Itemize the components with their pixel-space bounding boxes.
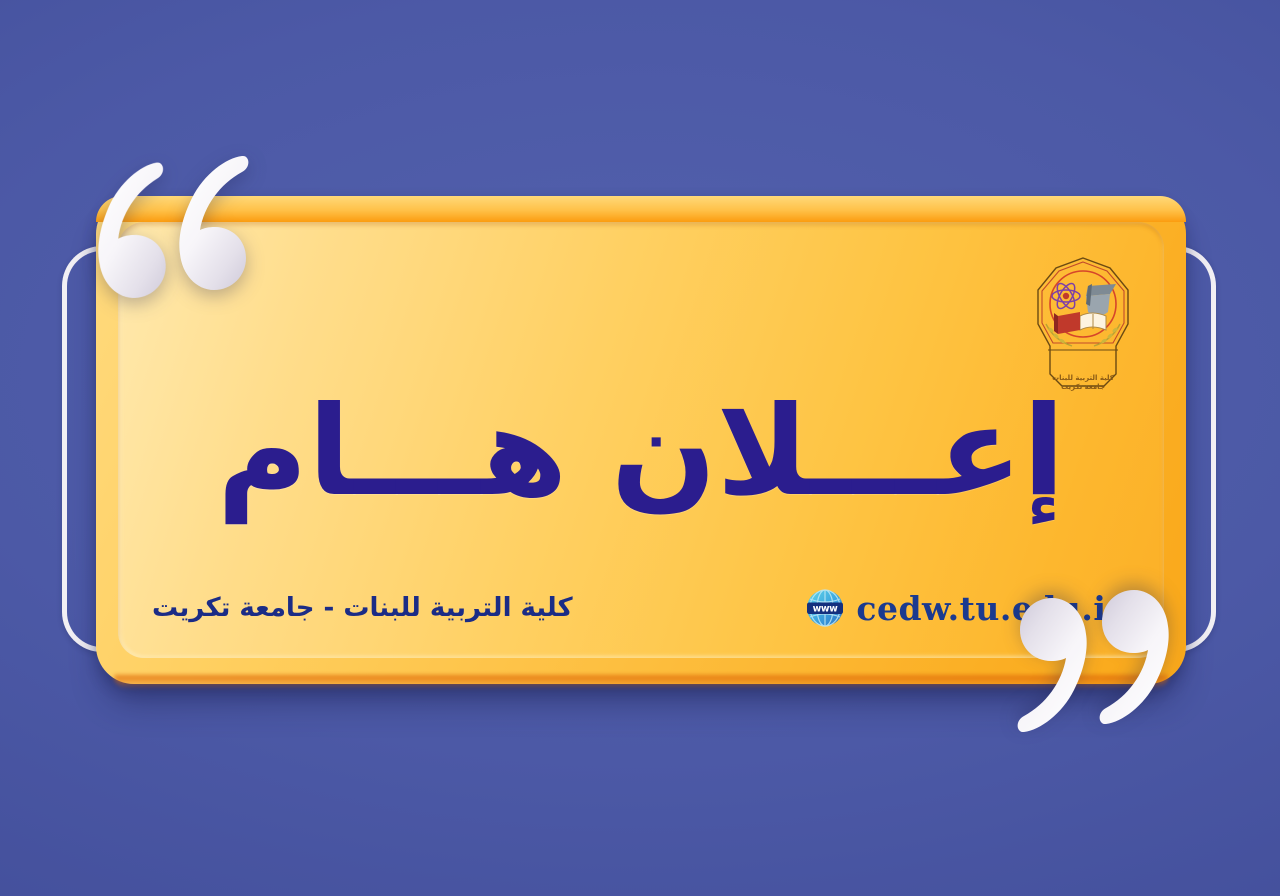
- page-title: إعـــلان هـــام: [118, 390, 1164, 514]
- quote-open-glyph-1: [82, 156, 182, 311]
- globe-www-icon: www: [805, 588, 845, 628]
- university-crest-icon: كلية التربية للبنات جامعة تكريت: [1024, 254, 1142, 394]
- quote-close-glyph-2: [1088, 580, 1180, 730]
- affiliation-text: كلية التربية للبنات - جامعة تكريت: [152, 593, 573, 623]
- quote-close-glyph-1: [1006, 588, 1098, 738]
- announcement-banner: كلية التربية للبنات جامعة تكريت إعـــلان…: [0, 0, 1280, 896]
- quote-open-glyph-2: [168, 150, 260, 300]
- card-footer: كلية التربية للبنات - جامعة تكريت: [152, 584, 1130, 632]
- svg-text:www: www: [813, 603, 839, 614]
